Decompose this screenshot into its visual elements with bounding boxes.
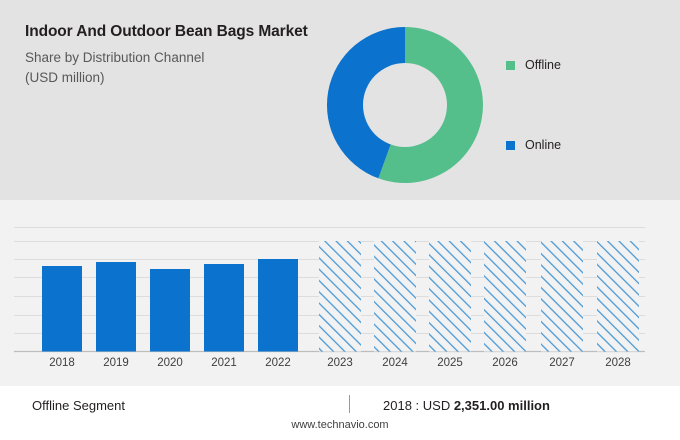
bar-2024[interactable] [374, 241, 416, 352]
page-title: Indoor And Outdoor Bean Bags Market [25, 22, 315, 42]
legend-item-label: Online [525, 138, 561, 152]
bar-2022[interactable] [258, 259, 298, 352]
x-axis-tick-2018: 2018 [35, 357, 89, 369]
x-axis-tick-2023: 2023 [313, 357, 367, 369]
x-axis-tick-2020: 2020 [143, 357, 197, 369]
x-axis-tick-2025: 2025 [423, 357, 477, 369]
bar-2020[interactable] [150, 269, 190, 352]
x-axis-tick-2027: 2027 [535, 357, 589, 369]
donut-hole [363, 63, 447, 147]
x-axis-tick-2022: 2022 [251, 357, 305, 369]
title-block: Indoor And Outdoor Bean Bags Market Shar… [25, 22, 315, 88]
footer-segment-label: Offline Segment [32, 398, 125, 413]
donut-legend: Offline Online [506, 56, 656, 154]
header-band: Indoor And Outdoor Bean Bags Market Shar… [0, 0, 680, 200]
x-axis-tick-2019: 2019 [89, 357, 143, 369]
bar-2021[interactable] [204, 264, 244, 352]
bar-2019[interactable] [96, 262, 136, 352]
x-axis-labels: 2018 2019 2020 2021 2022 2023 2024 2025 … [0, 357, 680, 379]
square-swatch-icon [506, 141, 515, 150]
footer-value: 2018 : USD 2,351.00 million [383, 398, 550, 413]
footer-value-amount: 2,351.00 million [454, 398, 550, 413]
donut-chart-svg [320, 20, 490, 190]
x-axis-tick-2026: 2026 [478, 357, 532, 369]
legend-item-offline[interactable]: Offline [506, 56, 656, 74]
square-swatch-icon [506, 61, 515, 70]
bar-2028[interactable] [597, 241, 639, 352]
bar-2027[interactable] [541, 241, 583, 352]
footer-divider [349, 395, 350, 413]
bar-chart-panel: 2018 2019 2020 2021 2022 2023 2024 2025 … [0, 200, 680, 386]
x-axis-tick-2021: 2021 [197, 357, 251, 369]
page-subtitle-line2: (USD million) [25, 68, 315, 88]
bar-2023[interactable] [319, 241, 361, 352]
footer-value-prefix: 2018 : USD [383, 398, 450, 413]
bar-2018[interactable] [42, 266, 82, 352]
x-axis-tick-2028: 2028 [591, 357, 645, 369]
donut-chart [320, 20, 490, 190]
bar-2026[interactable] [484, 241, 526, 352]
legend-item-online[interactable]: Online [506, 136, 656, 154]
infographic-container: Indoor And Outdoor Bean Bags Market Shar… [0, 0, 680, 440]
bar-2025[interactable] [429, 241, 471, 352]
footer-url: www.technavio.com [0, 419, 680, 431]
page-subtitle-line1: Share by Distribution Channel [25, 48, 315, 68]
footer: Offline Segment 2018 : USD 2,351.00 mill… [0, 386, 680, 440]
x-axis-tick-2024: 2024 [368, 357, 422, 369]
legend-item-label: Offline [525, 58, 561, 72]
